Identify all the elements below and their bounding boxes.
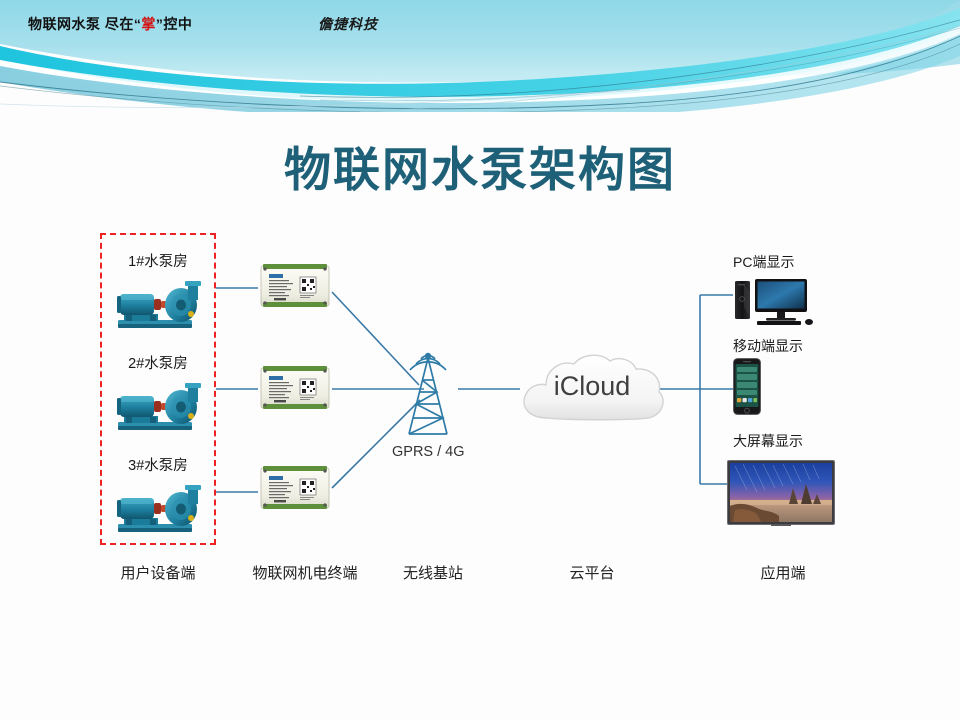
application-label-mobile: 移动端显示 xyxy=(733,336,803,356)
cloud-label: iCloud xyxy=(512,371,672,402)
stage-label-user-equipment: 用户设备端 xyxy=(98,562,218,583)
iot-controller-icon xyxy=(260,464,330,512)
water-pump-icon xyxy=(110,276,206,332)
stage-label-cloud-platform: 云平台 xyxy=(532,562,652,583)
stage-label-application: 应用端 xyxy=(723,562,843,583)
pump-label-2: 2#水泵房 xyxy=(100,352,216,373)
application-label-large-screen: 大屏幕显示 xyxy=(733,431,803,451)
header-tagline-highlight: 掌 xyxy=(141,16,156,32)
water-pump-icon xyxy=(110,480,206,536)
stage-label-iot-terminal: 物联网机电终端 xyxy=(222,562,388,583)
stage-label-base-station: 无线基站 xyxy=(373,562,493,583)
iot-controller-icon xyxy=(260,262,330,310)
tower-label: GPRS / 4G xyxy=(392,444,465,460)
header-tagline: 物联网水泵 尽在“掌”控中 xyxy=(28,14,192,34)
desktop-computer-icon xyxy=(733,277,815,329)
architecture-diagram: 1#水泵房 xyxy=(0,0,960,720)
cell-tower-icon xyxy=(386,334,470,440)
pump-label-1: 1#水泵房 xyxy=(100,250,216,271)
slide: 物联网水泵 尽在“掌”控中 儋捷科技 物联网水泵架构图 xyxy=(0,0,960,720)
header-tagline-before: 物联网水泵 尽在 xyxy=(28,16,134,32)
large-screen-tv-icon xyxy=(727,460,835,527)
smartphone-icon xyxy=(733,358,761,415)
iot-controller-icon xyxy=(260,364,330,412)
pump-label-3: 3#水泵房 xyxy=(100,454,216,475)
water-pump-icon xyxy=(110,378,206,434)
application-label-pc: PC端显示 xyxy=(733,252,794,272)
company-brand: 儋捷科技 xyxy=(318,14,378,34)
header-tagline-after: 控中 xyxy=(163,16,192,32)
